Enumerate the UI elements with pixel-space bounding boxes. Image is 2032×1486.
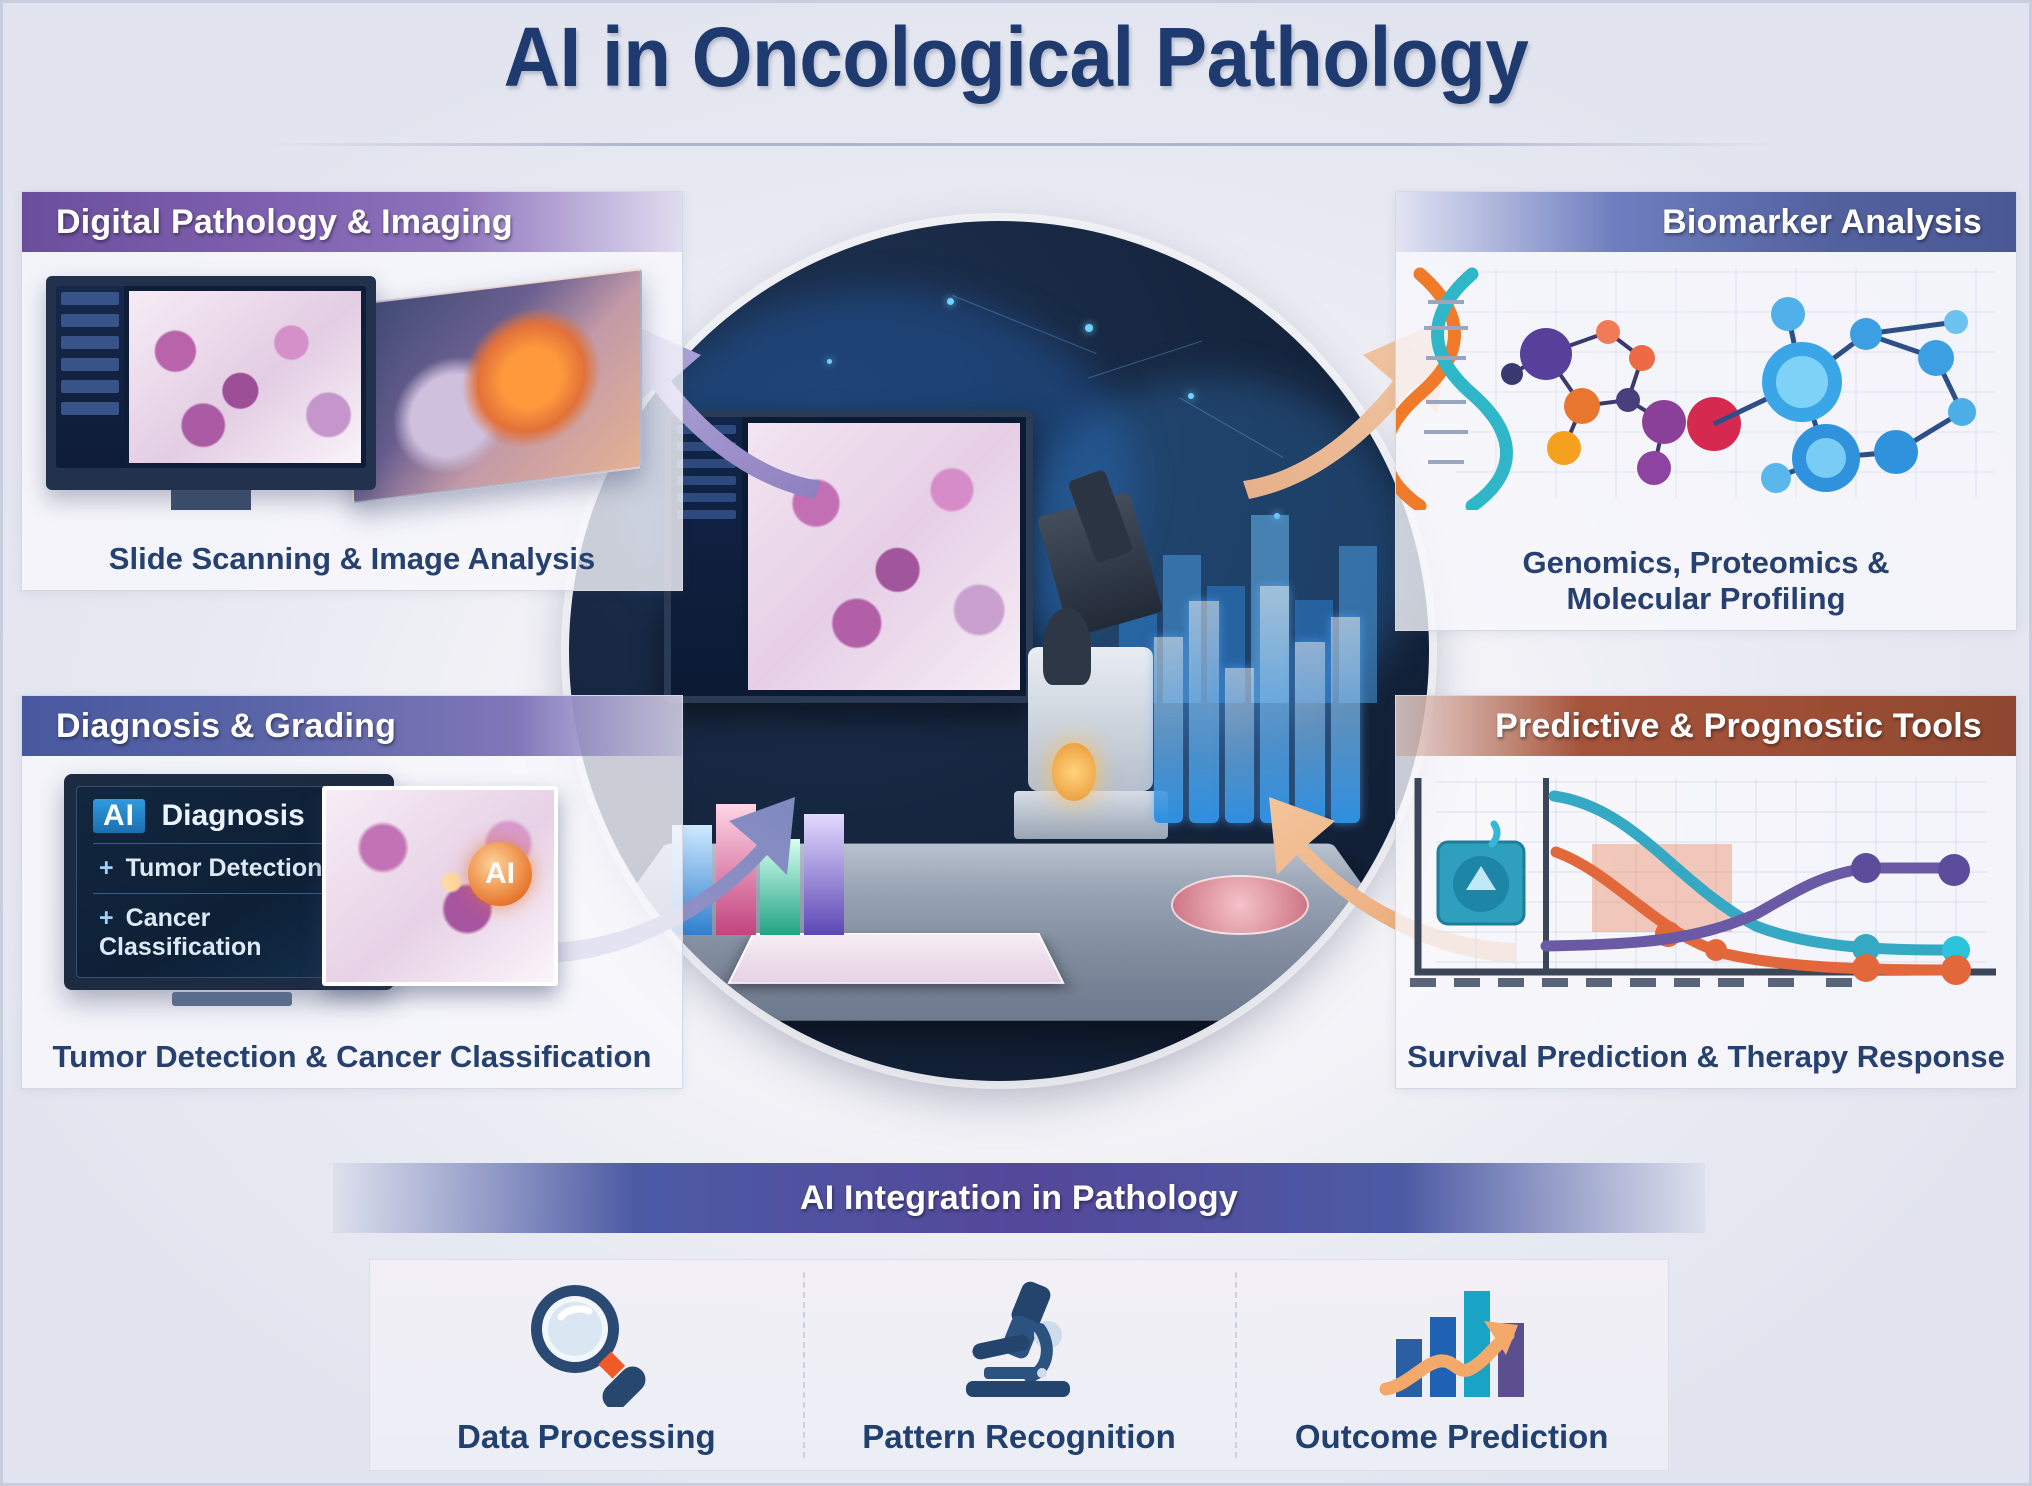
panel-header-predictive-prognostic: Predictive & Prognostic Tools: [1396, 696, 2016, 756]
monitor-stand: [172, 992, 292, 1006]
bottom-item-pattern-recognition[interactable]: Pattern Recognition: [803, 1260, 1236, 1470]
panel-predictive-prognostic: Predictive & Prognostic Tools: [1395, 695, 2017, 1089]
bottom-section: AI Integration in Pathology Data Process…: [333, 1163, 1705, 1475]
diagnosis-artwork: AI Diagnosis +Tumor Detection +Cancer Cl…: [22, 764, 682, 1014]
page-title: AI in Oncological Pathology: [74, 9, 1958, 106]
panel-diagnosis-grading: Diagnosis & Grading AI Diagnosis +Tumor …: [21, 695, 683, 1089]
bottom-header-bar: AI Integration in Pathology: [333, 1163, 1705, 1233]
title-divider: [263, 143, 1783, 146]
hub-test-tubes: [1154, 565, 1360, 823]
dna-molecule-graphic: [1396, 262, 2018, 510]
panel-header-biomarker-analysis: Biomarker Analysis: [1396, 192, 2016, 252]
ai-badge: AI: [93, 799, 145, 833]
bottom-item-label: Outcome Prediction: [1295, 1418, 1609, 1456]
slide-scanner-monitor: [46, 276, 376, 490]
bar-chart-arrow-icon: [1372, 1282, 1532, 1402]
caption-biomarker-analysis: Genomics, Proteomics & Molecular Profili…: [1396, 539, 2016, 630]
microscope-icon: [944, 1282, 1094, 1402]
ai-screen-title: Diagnosis: [161, 799, 304, 832]
infographic-canvas: AI in Oncological Pathology: [0, 0, 2032, 1486]
biomarker-artwork: [1396, 262, 2016, 510]
predictive-chart-artwork: [1396, 764, 2016, 1014]
tissue-3d-block: [352, 268, 642, 504]
digital-pathology-artwork: [22, 258, 682, 508]
bottom-item-outcome-prediction[interactable]: Outcome Prediction: [1235, 1260, 1668, 1470]
bottom-item-data-processing[interactable]: Data Processing: [370, 1260, 803, 1470]
panel-header-diagnosis-grading: Diagnosis & Grading: [22, 696, 682, 756]
dna-helix-icon: [1396, 274, 1507, 506]
panel-biomarker-analysis: Biomarker Analysis: [1395, 191, 2017, 631]
survival-line-chart: [1396, 764, 2018, 1014]
panel-header-digital-pathology: Digital Pathology & Imaging: [22, 192, 682, 252]
magnifier-icon: [511, 1282, 661, 1402]
caption-predictive-prognostic: Survival Prediction & Therapy Response: [1396, 1033, 2016, 1088]
page-title-wrapper: AI in Oncological Pathology: [3, 9, 2029, 106]
bottom-item-label: Pattern Recognition: [862, 1418, 1176, 1456]
ai-overlay-badge: AI: [468, 842, 532, 906]
plus-icon: +: [99, 854, 114, 882]
bottom-items-panel: Data Processing Pattern Recogniti: [369, 1259, 1669, 1471]
caption-diagnosis-grading: Tumor Detection & Cancer Classification: [22, 1033, 682, 1088]
caption-digital-pathology: Slide Scanning & Image Analysis: [22, 535, 682, 590]
bottom-item-label: Data Processing: [457, 1418, 716, 1456]
plus-icon-2: +: [99, 904, 114, 932]
panel-digital-pathology: Digital Pathology & Imaging Slide Scanni…: [21, 191, 683, 591]
